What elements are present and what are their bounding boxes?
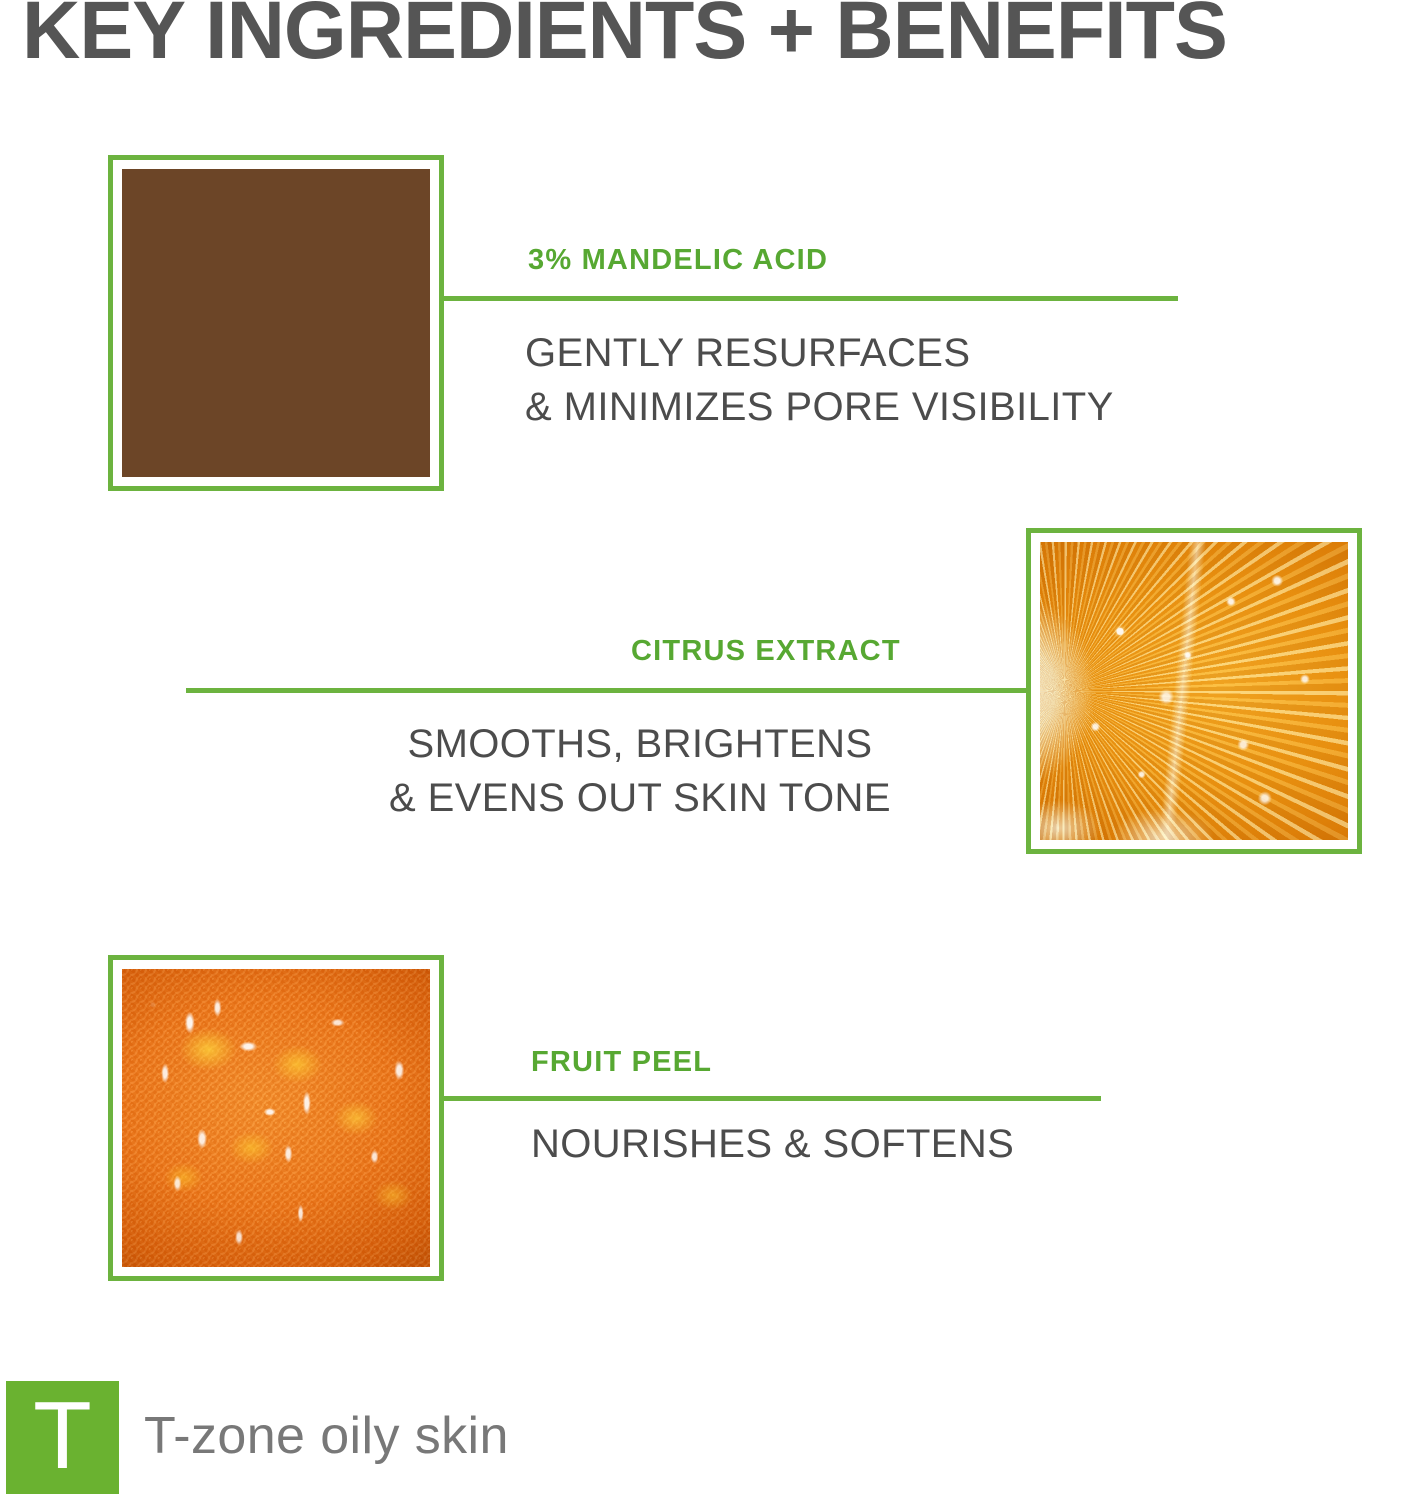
skin-type-label: T-zone oily skin: [144, 1406, 509, 1466]
orange-peel-photo: [122, 969, 430, 1267]
page-title: KEY INGREDIENTS + BENEFITS: [22, 0, 1401, 72]
ingredient-label-citrus-extract: CITRUS EXTRACT: [631, 635, 901, 668]
ingredient-benefit-citrus-extract: SMOOTHS, BRIGHTENS & EVENS OUT SKIN TONE: [340, 718, 940, 825]
almonds-photo-texture: [122, 169, 430, 477]
tzone-badge-icon: T: [6, 1381, 119, 1494]
ingredient-image-orange-peel: [108, 955, 444, 1281]
orange-slice-photo: [1040, 542, 1348, 840]
orange-slice-photo-texture: [1040, 542, 1348, 840]
ingredient-label-fruit-peel: FRUIT PEEL: [531, 1046, 712, 1079]
connector-line-fruit-peel: [443, 1096, 1101, 1101]
ingredient-label-mandelic-acid: 3% MANDELIC ACID: [528, 244, 828, 277]
tzone-badge-letter: T: [6, 1381, 119, 1494]
orange-peel-photo-texture: [122, 969, 430, 1267]
ingredient-image-orange-slice: [1026, 528, 1362, 854]
ingredient-benefit-mandelic-acid: GENTLY RESURFACES & MINIMIZES PORE VISIB…: [525, 327, 1114, 434]
connector-line-mandelic-acid: [443, 296, 1178, 301]
connector-line-citrus-extract: [186, 688, 1031, 693]
almonds-photo: [122, 169, 430, 477]
ingredient-benefit-fruit-peel: NOURISHES & SOFTENS: [531, 1118, 1014, 1172]
ingredient-image-almonds: [108, 155, 444, 491]
